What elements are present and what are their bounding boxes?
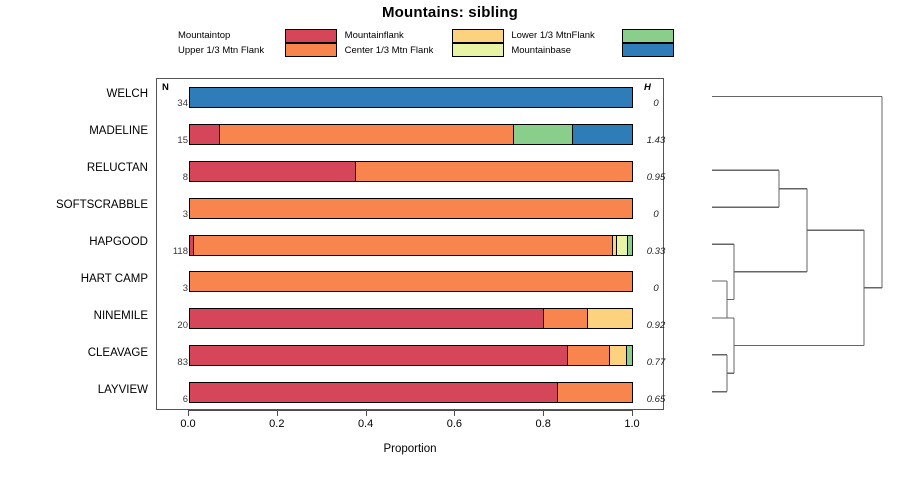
legend-swatch-stack [622,29,674,57]
h-value: 0.33 [638,246,674,257]
h-column-header: H [644,82,651,93]
stacked-bar[interactable] [189,161,633,182]
bar-segment[interactable] [617,236,628,255]
n-value: 8 [158,172,188,183]
x-tick-label: 0.8 [523,418,563,430]
bar-segment[interactable] [558,383,632,402]
bar-segment[interactable] [190,383,558,402]
x-tick-label: 0.2 [257,418,297,430]
n-column-header: N [162,82,169,93]
legend: Mountaintop Upper 1/3 Mtn Flank Mountain… [178,28,678,58]
bar-segment[interactable] [190,162,356,181]
h-value: 0 [638,209,674,220]
bar-segment[interactable] [610,346,626,365]
x-axis-line [188,410,632,411]
n-value: 6 [158,394,188,405]
legend-label: Mountainflank [345,28,453,43]
legend-swatch [285,29,337,43]
x-tick-label: 0.0 [168,418,208,430]
legend-label: Lower 1/3 MtnFlank [511,28,619,43]
bar-segment[interactable] [190,272,632,291]
x-tick-label: 0.4 [346,418,386,430]
n-value: 118 [158,246,188,257]
bar-segment[interactable] [190,346,568,365]
plot-panel [156,78,664,410]
stacked-bar[interactable] [189,198,633,219]
category-label: WELCH [0,88,148,100]
x-tick [454,410,455,416]
x-tick [366,410,367,416]
bar-segment[interactable] [588,309,632,328]
h-value: 0.77 [638,357,674,368]
h-value: 1.43 [638,135,674,146]
x-tick [277,410,278,416]
n-value: 34 [158,98,188,109]
bar-segment[interactable] [190,125,220,144]
category-label: SOFTSCRABBLE [0,199,148,211]
h-value: 0.95 [638,172,674,183]
stacked-bar[interactable] [189,235,633,256]
legend-swatch-stack [452,29,504,57]
bar-segment[interactable] [573,125,632,144]
bar-segment[interactable] [514,125,573,144]
category-label: HAPGOOD [0,236,148,248]
stacked-bar[interactable] [189,271,633,292]
chart-root: Mountains: sibling Mountaintop Upper 1/3… [0,0,900,480]
stacked-bar[interactable] [189,308,633,329]
dendrogram-svg [704,78,894,410]
dendrogram [704,78,894,410]
legend-swatch-stack [285,29,337,57]
h-value: 0.65 [638,394,674,405]
x-axis-title: Proportion [156,443,664,455]
n-value: 3 [158,283,188,294]
legend-swatch [622,29,674,43]
category-label: HART CAMP [0,273,148,285]
page-title: Mountains: sibling [0,4,900,21]
x-tick [632,410,633,416]
n-value: 3 [158,209,188,220]
x-tick-label: 0.6 [434,418,474,430]
legend-swatch [285,43,337,57]
bar-segment[interactable] [190,88,632,107]
bar-segment[interactable] [220,125,514,144]
stacked-bar[interactable] [189,345,633,366]
category-label: MADELINE [0,125,148,137]
category-label: NINEMILE [0,310,148,322]
x-tick-label: 1.0 [612,418,652,430]
category-label: CLEAVAGE [0,347,148,359]
bar-segment[interactable] [568,346,610,365]
legend-swatch [622,43,674,57]
bar-segment[interactable] [627,346,632,365]
bar-segment[interactable] [190,309,544,328]
stacked-bar[interactable] [189,382,633,403]
legend-label: Center 1/3 Mtn Flank [345,43,453,58]
category-label: LAYVIEW [0,384,148,396]
legend-swatch [452,43,504,57]
bar-segment[interactable] [190,199,632,218]
bar-segment[interactable] [194,236,613,255]
category-label: RELUCTAN [0,162,148,174]
x-tick [188,410,189,416]
legend-label: Mountainbase [511,43,619,58]
x-tick [543,410,544,416]
legend-label: Mountaintop [178,28,286,43]
bar-segment[interactable] [628,236,632,255]
n-value: 15 [158,135,188,146]
n-value: 83 [158,357,188,368]
h-value: 0 [638,98,674,109]
n-value: 20 [158,320,188,331]
bar-segment[interactable] [544,309,588,328]
x-axis: 0.00.20.40.60.81.0 [156,410,664,411]
stacked-bar[interactable] [189,87,633,108]
bar-segment[interactable] [356,162,632,181]
plot-area [189,79,633,411]
h-value: 0.92 [638,320,674,331]
stacked-bar[interactable] [189,124,633,145]
legend-swatch [452,29,504,43]
h-value: 0 [638,283,674,294]
legend-label: Upper 1/3 Mtn Flank [178,43,286,58]
